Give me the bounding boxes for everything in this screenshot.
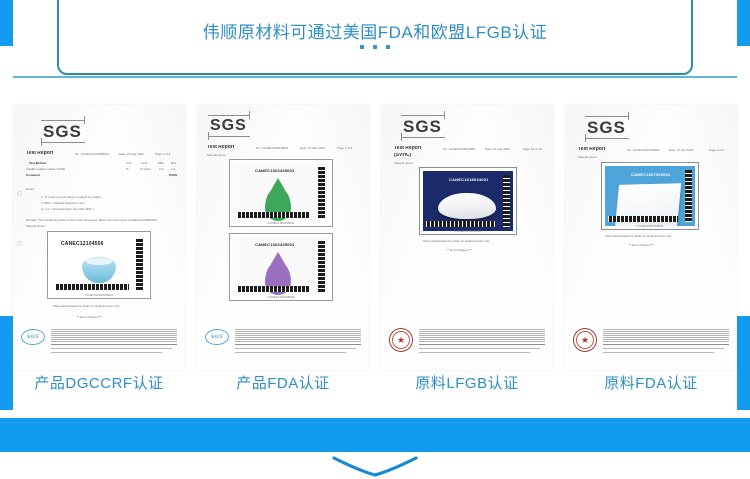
ruler-vertical xyxy=(685,170,692,222)
photo-caption: CANEC1302445002 xyxy=(230,295,332,299)
dot-1 xyxy=(360,45,364,49)
sgs-tick-right xyxy=(84,116,85,124)
sgs-tick-left xyxy=(585,134,586,142)
sgs-tick-left xyxy=(41,138,42,146)
report-remark: Remark: The results & photos of this rep… xyxy=(26,218,157,222)
ruler-horizontal xyxy=(237,286,309,292)
sgs-logo: SGS xyxy=(587,118,626,138)
ruler-horizontal xyxy=(237,212,309,218)
sample-photo-label: Sample photo : xyxy=(578,155,598,159)
field-limit: % (w/w) xyxy=(140,167,151,171)
footer-text-block xyxy=(603,328,729,342)
report-title: Test Report xyxy=(26,151,53,155)
edge-accent-mid-right xyxy=(737,316,750,410)
sample-object-bowl xyxy=(82,257,116,283)
sgs-logo: SGS xyxy=(403,117,442,137)
certificate-card[interactable]: SGS Test Report No. CANEC12104556001 Dat… xyxy=(13,105,185,370)
certificate-footer: ★ xyxy=(389,328,545,356)
seal-ring xyxy=(392,331,410,349)
sample-photo: CANEC12104556 CANEC12104556001 xyxy=(47,231,151,299)
field-limit: Limit xyxy=(141,161,147,165)
sgs-tick-left xyxy=(208,132,209,140)
photo-scene: CANEC12104556 xyxy=(51,235,147,295)
sample-code: CANEC12104556 xyxy=(61,241,104,247)
sample-photo-label: Sample photo : xyxy=(207,153,227,157)
certificate-footer: SGS xyxy=(205,328,361,356)
end-of-report: ** End of Report ** xyxy=(629,243,654,247)
seal-ring xyxy=(576,331,594,349)
sgs-rule-bottom xyxy=(208,136,250,137)
photo-scene: CANEC1302445001 xyxy=(233,237,329,297)
sgs-tick-right xyxy=(444,111,445,119)
dot-3 xyxy=(386,45,390,49)
certificate-footer: SGS xyxy=(21,328,177,356)
end-of-report: ** End of Report ** xyxy=(447,248,472,252)
report-page: Page 4 of 5 xyxy=(337,146,352,150)
sample-object-oval xyxy=(438,193,496,219)
footer-text-block xyxy=(419,328,545,342)
report-subtitle: (SVHC) xyxy=(394,153,411,157)
photo-scene: CANEC1607300001 xyxy=(605,166,695,226)
sample-photo-label: Sample photo : xyxy=(26,224,46,228)
note-item: 1. % = w/w is percentage of weight by we… xyxy=(41,195,101,199)
caption-material-fda: 原料FDA认证 xyxy=(565,372,737,393)
dot-2 xyxy=(373,45,377,49)
report-number: No. CANEC12104556001 xyxy=(75,152,109,156)
report-page: Page 4 of 4 xyxy=(155,152,170,156)
red-star-seal-icon: ★ xyxy=(573,328,597,352)
photo-caption: CANEC12104556001 xyxy=(48,293,150,297)
sgs-logo: SGS xyxy=(210,117,247,135)
report-page: Page 2 of 2 xyxy=(709,148,724,152)
certificate-gallery: SGS Test Report No. CANEC12104556001 Dat… xyxy=(13,105,737,370)
authenticate-note: SGS authenticate the photo on original r… xyxy=(605,234,672,238)
sample-code: CANEC1618034001 xyxy=(449,177,488,182)
authenticate-note: SGS authenticate the photo on original r… xyxy=(53,304,120,308)
caption-material-lfgb: 原料LFGB认证 xyxy=(381,372,553,393)
report-date: Date: 07 Mar 2013 xyxy=(300,146,325,150)
note-item: 2. MDL = Method Detection Limit xyxy=(41,201,85,205)
sgs-rule-bottom xyxy=(41,142,85,143)
sample-photo: CANEC1302445001 CANEC1302445002 xyxy=(229,233,333,301)
certificate-captions: 产品DGCCRF认证 产品FDA认证 原料LFGB认证 原料FDA认证 xyxy=(13,372,737,393)
sample-photo: CANEC1618034001 CANEC1618034001 xyxy=(419,167,517,235)
footer-text-block xyxy=(51,328,177,342)
field-result: PASS xyxy=(169,173,177,177)
sgs-seal-icon: SGS xyxy=(21,329,46,346)
sgs-logo: SGS xyxy=(43,122,82,142)
certificate-footer: ★ xyxy=(573,328,729,356)
bottom-accent-bar xyxy=(0,418,750,452)
sample-code: CANEC1302445001 xyxy=(255,242,294,247)
sample-code: CANEC1302445001 xyxy=(255,168,294,173)
footer-text-block xyxy=(235,328,361,342)
sample-photo-label: Sample photo : xyxy=(394,161,414,165)
edge-accent-mid-left xyxy=(0,316,13,410)
field-mdl: MDL xyxy=(158,161,164,165)
authenticate-note: SGS authenticate the photo on original r… xyxy=(423,239,490,243)
certificate-card[interactable]: SGS Test Report (SVHC) No. CANEC16180340… xyxy=(381,105,553,370)
decorative-dots xyxy=(59,45,691,49)
field-label: Comment xyxy=(26,173,40,177)
ruler-vertical xyxy=(318,241,325,293)
sgs-rule-top xyxy=(41,120,85,121)
photo-scene: CANEC1302445001 xyxy=(233,163,329,223)
footer-contact-lines xyxy=(235,344,361,354)
punch-hole xyxy=(17,241,22,246)
ruler-horizontal xyxy=(426,221,496,227)
caption-product-fda: 产品FDA认证 xyxy=(197,372,369,393)
sgs-tick-right xyxy=(249,111,250,119)
sgs-rule-top xyxy=(208,115,250,116)
sgs-seal-icon: SGS xyxy=(205,329,230,346)
caption-dgccrf: 产品DGCCRF认证 xyxy=(13,372,185,393)
photo-scene: CANEC1618034001 xyxy=(423,171,513,231)
sgs-rule-bottom xyxy=(585,138,629,139)
ruler-vertical xyxy=(136,239,143,291)
ruler-horizontal xyxy=(55,284,129,290)
ruler-vertical xyxy=(318,167,325,219)
field-unit: % xyxy=(126,167,129,171)
report-date: Date: 21 Aug 2016 xyxy=(485,147,510,151)
note-item: 3. n.d. = Not Detected ( less than MDL ) xyxy=(41,207,94,211)
field-label: Volatile organic matter (VOM) xyxy=(26,167,65,171)
photo-caption: CANEC1618034001 xyxy=(420,229,516,233)
footer-contact-lines xyxy=(51,344,177,354)
field-mdl: 0.1 xyxy=(159,167,163,171)
report-title: Test Report xyxy=(207,145,234,149)
edge-accent-top-right xyxy=(737,0,750,46)
report-number: No. CANEC1607300001 xyxy=(627,148,660,152)
footer-contact-lines xyxy=(419,344,545,354)
certificate-card[interactable]: SGS Test Report No. CANEC1302445001 Date… xyxy=(197,105,369,370)
red-star-seal-icon: ★ xyxy=(389,328,413,352)
sgs-tick-right xyxy=(628,112,629,120)
sgs-rule-bottom xyxy=(401,137,445,138)
field-unit: Unit xyxy=(126,161,131,165)
report-title: Test Report xyxy=(578,147,605,151)
certificate-card[interactable]: SGS Test Report No. CANEC1607300001 Date… xyxy=(565,105,737,370)
report-number: No. CANEC1618034001 xyxy=(443,147,476,151)
sample-photo: CANEC1607300001 CANEC1607300001 xyxy=(601,162,699,230)
sample-code: CANEC1607300001 xyxy=(631,172,670,177)
ruler-horizontal xyxy=(608,216,678,222)
field-result: n.d. xyxy=(171,167,176,171)
ruler-vertical xyxy=(503,175,510,227)
punch-hole xyxy=(17,191,22,196)
header-frame: 检测报告 伟顺原材料可通过美国FDA和欧盟LFGB认证 xyxy=(57,0,693,75)
report-date: Date: 27 Apr 2016 xyxy=(669,148,693,152)
footer-contact-lines xyxy=(603,344,729,354)
report-title: Test Report xyxy=(394,146,421,150)
field-label: Test Method xyxy=(29,161,46,165)
field-result: 001 xyxy=(171,161,176,165)
photo-caption: CANEC1607300001 xyxy=(602,224,698,228)
photo-caption: CANEC1302445001 xyxy=(230,221,332,225)
report-page: Page 16 of 16 xyxy=(523,147,542,151)
report-date: Date: 23 Aug 2012 xyxy=(119,152,144,156)
header-subtitle: 伟顺原材料可通过美国FDA和欧盟LFGB认证 xyxy=(59,18,691,43)
header-divider xyxy=(13,76,737,78)
sample-photo: CANEC1302445001 CANEC1302445001 xyxy=(229,159,333,227)
end-of-report: ** End of Report ** xyxy=(77,315,102,319)
sgs-rule-top xyxy=(401,115,445,116)
sgs-tick-left xyxy=(401,133,402,141)
notes-heading: Notes : xyxy=(26,187,36,191)
report-number: No. CANEC1302445001 xyxy=(256,146,289,150)
chevron-down-icon[interactable] xyxy=(332,456,418,478)
edge-accent-top-left xyxy=(0,0,13,46)
certification-section: 检测报告 伟顺原材料可通过美国FDA和欧盟LFGB认证 SGS Test Rep… xyxy=(0,0,750,479)
sgs-rule-top xyxy=(585,116,629,117)
